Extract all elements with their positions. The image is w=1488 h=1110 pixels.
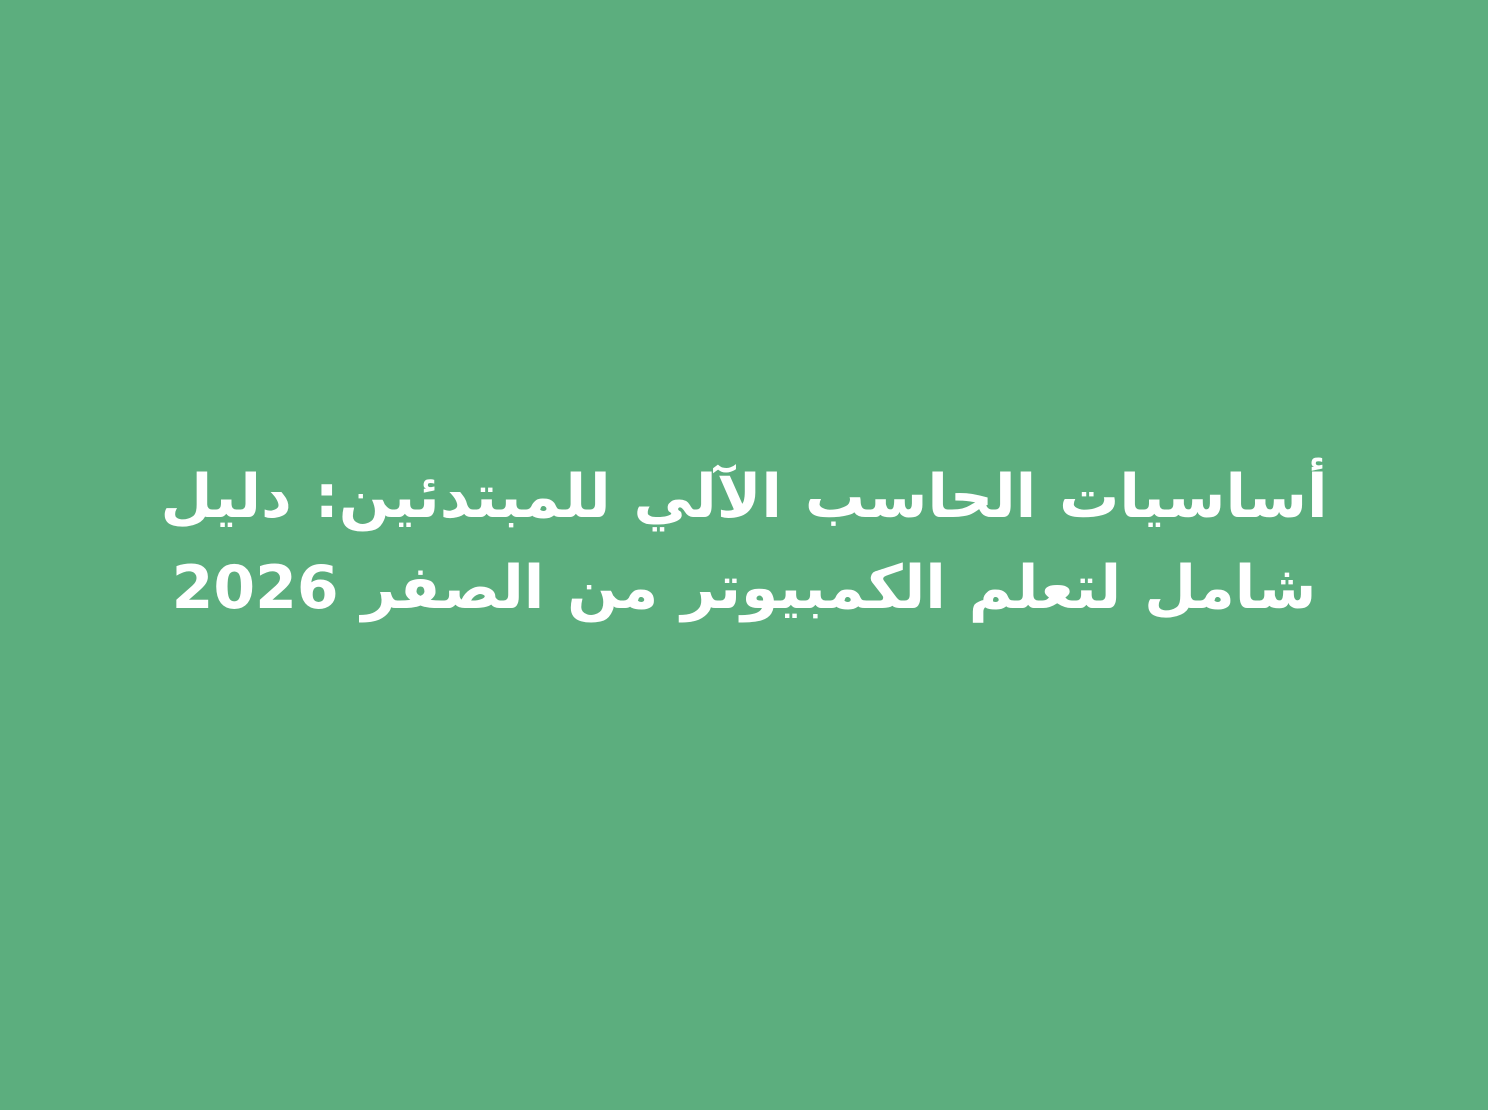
poster-canvas: أساسيات الحاسب الآلي للمبتدئين: دليل شام… — [0, 0, 1488, 1110]
title-block: أساسيات الحاسب الآلي للمبتدئين: دليل شام… — [79, 452, 1409, 634]
page-title: أساسيات الحاسب الآلي للمبتدئين: دليل شام… — [79, 452, 1409, 634]
